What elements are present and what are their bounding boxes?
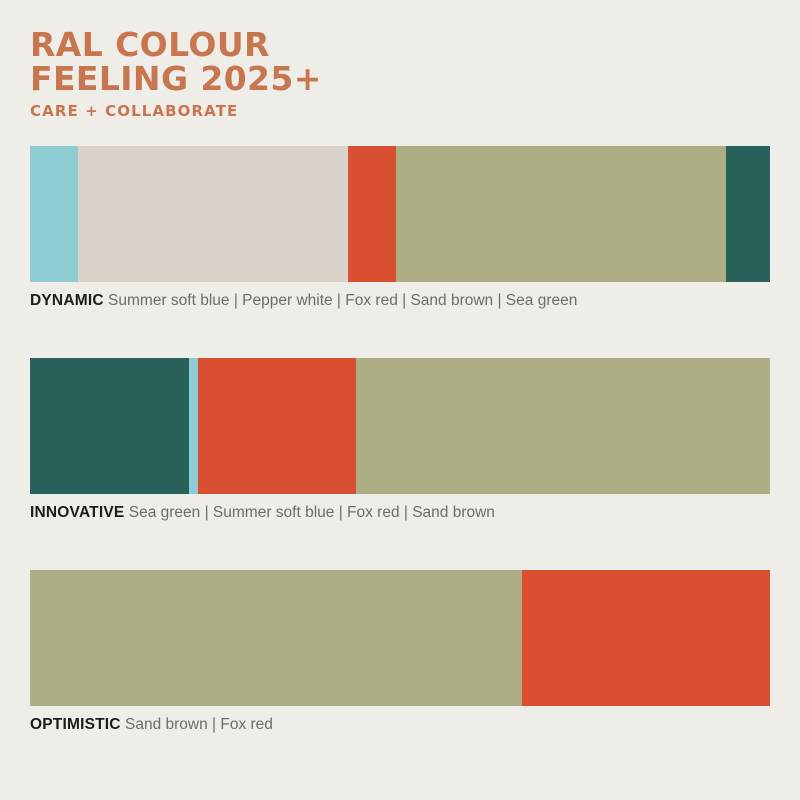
poster-subtitle: CARE + COLLABORATE [30, 102, 730, 120]
palette-caption: OPTIMISTIC Sand brown | Fox red [30, 715, 770, 735]
palette-caption: INNOVATIVE Sea green | Summer soft blue … [30, 503, 770, 523]
colour-swatch [348, 146, 396, 282]
title-line-1: RAL COLOUR [30, 28, 730, 62]
colour-swatch [198, 358, 356, 494]
palette-name: OPTIMISTIC [30, 716, 121, 733]
swatch-bar [30, 358, 770, 494]
swatch-bar [30, 146, 770, 282]
colour-swatch [30, 358, 189, 494]
colour-swatch [356, 358, 770, 494]
palette-name: INNOVATIVE [30, 504, 124, 521]
colour-swatch [30, 146, 78, 282]
palette-poster: RAL COLOUR FEELING 2025+ CARE + COLLABOR… [0, 0, 800, 800]
palette-row-innovative: INNOVATIVE Sea green | Summer soft blue … [30, 358, 770, 523]
colour-swatch [30, 570, 522, 706]
palette-caption: DYNAMIC Summer soft blue | Pepper white … [30, 291, 770, 311]
palette-name: DYNAMIC [30, 292, 104, 309]
poster-header: RAL COLOUR FEELING 2025+ CARE + COLLABOR… [30, 28, 730, 120]
colour-swatch [78, 146, 348, 282]
palette-colors-list: Summer soft blue | Pepper white | Fox re… [108, 292, 577, 309]
colour-swatch [396, 146, 725, 282]
palette-colors-list: Sand brown | Fox red [125, 716, 273, 733]
swatch-bar [30, 570, 770, 706]
title-line-2: FEELING 2025+ [30, 62, 730, 96]
palette-row-optimistic: OPTIMISTIC Sand brown | Fox red [30, 570, 770, 735]
colour-swatch [726, 146, 770, 282]
palette-row-dynamic: DYNAMIC Summer soft blue | Pepper white … [30, 146, 770, 311]
colour-swatch [189, 358, 198, 494]
palette-colors-list: Sea green | Summer soft blue | Fox red |… [129, 504, 495, 521]
colour-swatch [522, 570, 770, 706]
